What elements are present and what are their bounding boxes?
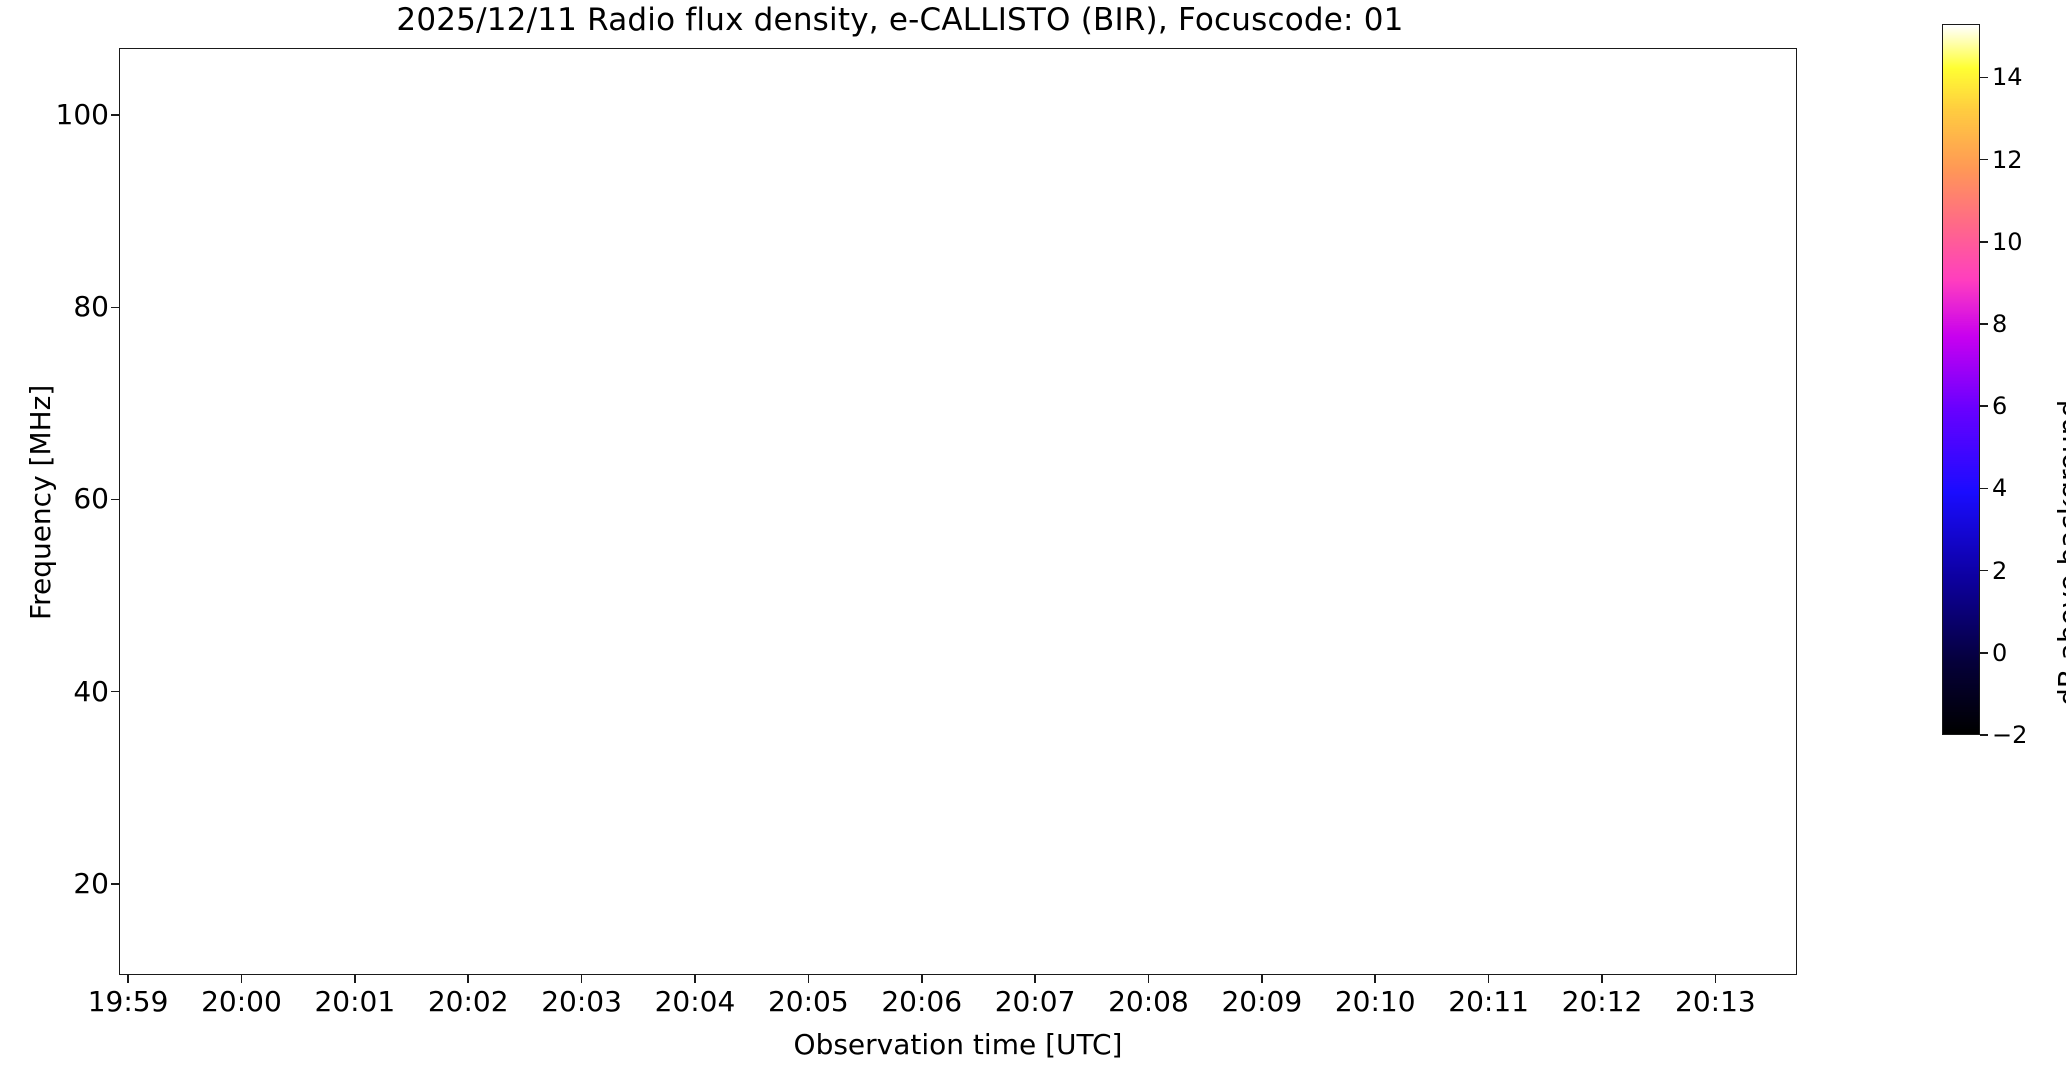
colorbar-gradient xyxy=(1943,25,1979,734)
x-tick-label: 20:02 xyxy=(428,988,509,1016)
x-tick-mark xyxy=(354,975,356,983)
x-tick-mark xyxy=(1034,975,1036,983)
x-tick-label: 20:00 xyxy=(201,988,282,1016)
colorbar-tick-mark xyxy=(1980,323,1988,325)
x-tick-mark xyxy=(1374,975,1376,983)
colorbar-tick-label: 2 xyxy=(1992,559,2007,583)
x-tick-mark xyxy=(808,975,810,983)
colorbar-label: dB above background xyxy=(2052,400,2066,706)
x-tick-label: 20:13 xyxy=(1675,988,1756,1016)
x-tick-mark xyxy=(127,975,129,983)
colorbar-tick-mark xyxy=(1980,159,1988,161)
colorbar-tick-mark xyxy=(1980,77,1988,79)
x-tick-label: 20:11 xyxy=(1448,988,1529,1016)
colorbar-tick-mark xyxy=(1980,488,1988,490)
x-tick-mark xyxy=(1488,975,1490,983)
colorbar-tick-label: 4 xyxy=(1992,476,2007,500)
x-tick-label: 19:59 xyxy=(88,988,169,1016)
colorbar-tick-label: 14 xyxy=(1992,65,2023,89)
colorbar-tick-label: 8 xyxy=(1992,312,2007,336)
figure-root: 2025/12/11 Radio flux density, e-CALLIST… xyxy=(0,0,2066,1067)
colorbar xyxy=(1942,24,1980,735)
x-tick-label: 20:01 xyxy=(314,988,395,1016)
y-tick-label: 80 xyxy=(73,293,109,321)
y-tick-label: 60 xyxy=(73,485,109,513)
x-tick-label: 20:10 xyxy=(1335,988,1416,1016)
colorbar-tick-label: 12 xyxy=(1992,148,2023,172)
x-tick-label: 20:09 xyxy=(1221,988,1302,1016)
x-tick-label: 20:08 xyxy=(1108,988,1189,1016)
x-tick-mark xyxy=(1261,975,1263,983)
x-tick-mark xyxy=(694,975,696,983)
x-tick-label: 20:07 xyxy=(995,988,1076,1016)
colorbar-tick-label: 10 xyxy=(1992,230,2023,254)
colorbar-tick-mark xyxy=(1980,652,1988,654)
colorbar-tick-mark xyxy=(1980,570,1988,572)
colorbar-tick-mark xyxy=(1980,405,1988,407)
y-axis-label: Frequency [MHz] xyxy=(24,385,57,620)
y-tick-mark xyxy=(111,114,119,116)
x-axis-label: Observation time [UTC] xyxy=(119,1028,1797,1061)
x-tick-mark xyxy=(241,975,243,983)
x-tick-label: 20:05 xyxy=(768,988,849,1016)
x-tick-mark xyxy=(921,975,923,983)
colorbar-tick-label: −2 xyxy=(1992,723,2027,747)
x-tick-mark xyxy=(1148,975,1150,983)
y-tick-mark xyxy=(111,691,119,693)
y-tick-label: 100 xyxy=(56,101,109,129)
x-tick-label: 20:03 xyxy=(541,988,622,1016)
y-tick-label: 40 xyxy=(73,678,109,706)
x-tick-mark xyxy=(1715,975,1717,983)
y-tick-mark xyxy=(111,883,119,885)
colorbar-tick-label: 0 xyxy=(1992,641,2007,665)
x-tick-label: 20:04 xyxy=(655,988,736,1016)
colorbar-tick-mark xyxy=(1980,241,1988,243)
x-tick-label: 20:06 xyxy=(881,988,962,1016)
chart-title: 2025/12/11 Radio flux density, e-CALLIST… xyxy=(0,2,1800,38)
x-tick-mark xyxy=(581,975,583,983)
colorbar-tick-mark xyxy=(1980,734,1988,736)
x-tick-mark xyxy=(467,975,469,983)
x-tick-mark xyxy=(1601,975,1603,983)
y-tick-mark xyxy=(111,307,119,309)
y-tick-label: 20 xyxy=(73,870,109,898)
spectrogram-plot-area xyxy=(119,48,1797,975)
y-tick-mark xyxy=(111,499,119,501)
spectrogram-image xyxy=(120,49,1796,974)
colorbar-tick-label: 6 xyxy=(1992,394,2007,418)
x-tick-label: 20:12 xyxy=(1562,988,1643,1016)
